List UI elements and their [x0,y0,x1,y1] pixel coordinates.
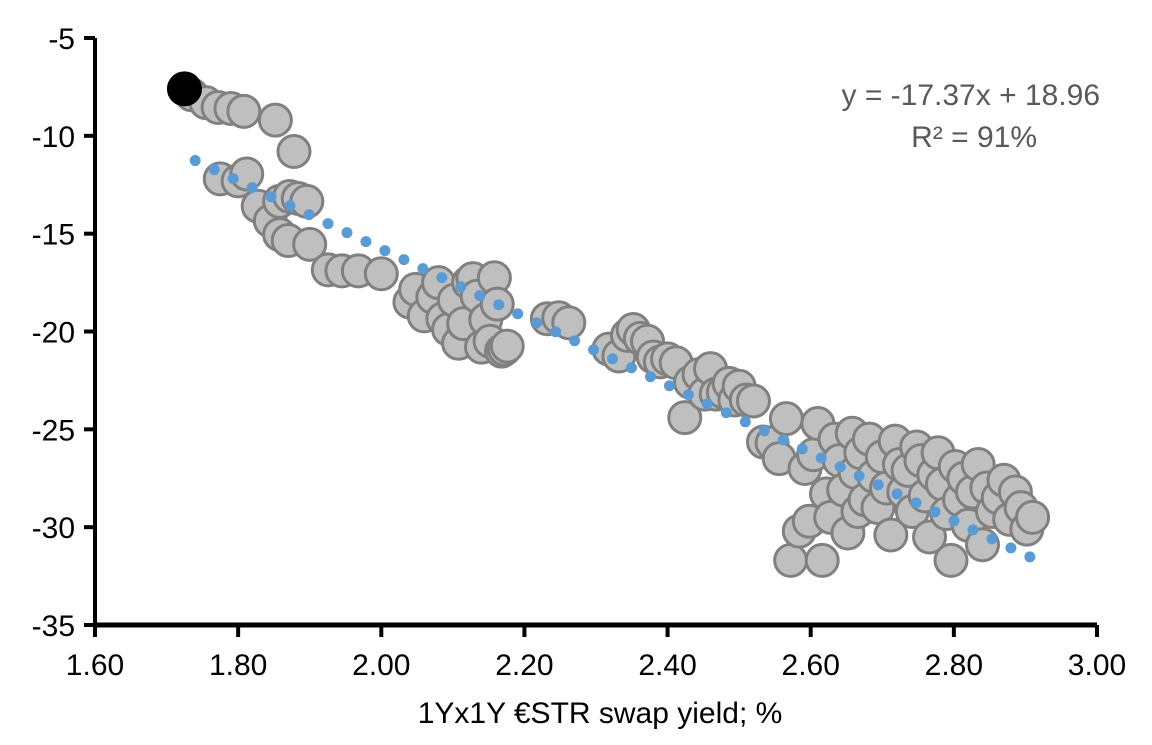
y-tick-label: -25 [32,414,75,447]
trendline-dot [247,182,258,193]
trendline-equation-label: y = -17.37x + 18.96 [841,79,1100,112]
chart-canvas: 1.601.802.002.202.402.602.803.00 -5-10-1… [0,0,1152,745]
trendline-dot [474,290,485,301]
trendline-dot [986,533,997,544]
highlight-point-marker [168,73,200,105]
trendline-dot [1005,542,1016,553]
x-tick-label: 3.00 [1068,649,1126,682]
trendline-dot [607,353,618,364]
scatter-point [228,95,260,127]
trendline-dot [493,299,504,310]
y-tick-label: -5 [48,23,75,56]
scatter-point [278,135,310,167]
trendline-dot [209,164,220,175]
y-tick-label: -35 [32,610,75,643]
trendline-dot [645,371,656,382]
y-tick-label: -20 [32,317,75,350]
trendline-dot [190,155,201,166]
trendline-dot [854,470,865,481]
trendline-dot [417,263,428,274]
y-axis-tick-labels: -5-10-15-20-25-30-35 [32,23,75,643]
trendline-dot [569,335,580,346]
x-axis-title: 1Yx1Y €STR swap yield; % [418,697,783,730]
x-tick-label: 2.80 [925,649,983,682]
x-tick-label: 1.60 [66,649,124,682]
trendline-dot [588,344,599,355]
trendline-dot [398,254,409,265]
scatter-point [775,544,807,576]
x-tick-label: 2.00 [352,649,410,682]
trendline-dot [304,209,315,220]
trendline-dot [702,398,713,409]
trendline-dot [322,218,333,229]
trendline-dot [930,506,941,517]
trendline-dot [892,488,903,499]
trendline-dot [948,515,959,526]
scatter-point [491,330,523,362]
trendline-dot [721,407,732,418]
trendline-dot [911,497,922,508]
highlight-point [168,73,200,105]
trendline-dot [873,479,884,490]
trendline-dot [683,389,694,400]
trendline-dot [512,308,523,319]
trendline-dot [228,173,239,184]
y-tick-label: -30 [32,512,75,545]
trendline-dot [797,443,808,454]
y-tick-label: -10 [32,121,75,154]
y-tick-label: -15 [32,219,75,252]
trendline-dot [816,452,827,463]
trendline-dot [436,272,447,283]
x-axis-tick-labels: 1.601.802.002.202.402.602.803.00 [66,649,1126,682]
x-tick-label: 2.40 [638,649,696,682]
trendline-dot [740,416,751,427]
scatter-point [770,403,802,435]
scatter-point [935,544,967,576]
trendline-dot [1024,551,1035,562]
trendline-dot [360,236,371,247]
trendline-dot [967,524,978,535]
trendline-dot [626,362,637,373]
trendline-dot [455,281,466,292]
scatter-chart: 1.601.802.002.202.402.602.803.00 -5-10-1… [0,0,1152,745]
x-tick-label: 2.60 [782,649,840,682]
x-tick-label: 1.80 [209,649,267,682]
scatter-point [806,544,838,576]
scatter-point [259,104,291,136]
scatter-point [737,385,769,417]
scatter-point [1017,501,1049,533]
trendline-dot [379,245,390,256]
trendline-dot [835,461,846,472]
trendline-dot [664,380,675,391]
trendline-dot [266,191,277,202]
r-squared-label: R² = 91% [911,121,1037,154]
trendline-dot [550,326,561,337]
scatter-point [365,258,397,290]
trendline-dot [759,425,770,436]
trendline-dot [341,227,352,238]
trendline-dot [285,200,296,211]
trendline-dot [778,434,789,445]
trendline-dot [531,317,542,328]
x-tick-label: 2.20 [495,649,553,682]
